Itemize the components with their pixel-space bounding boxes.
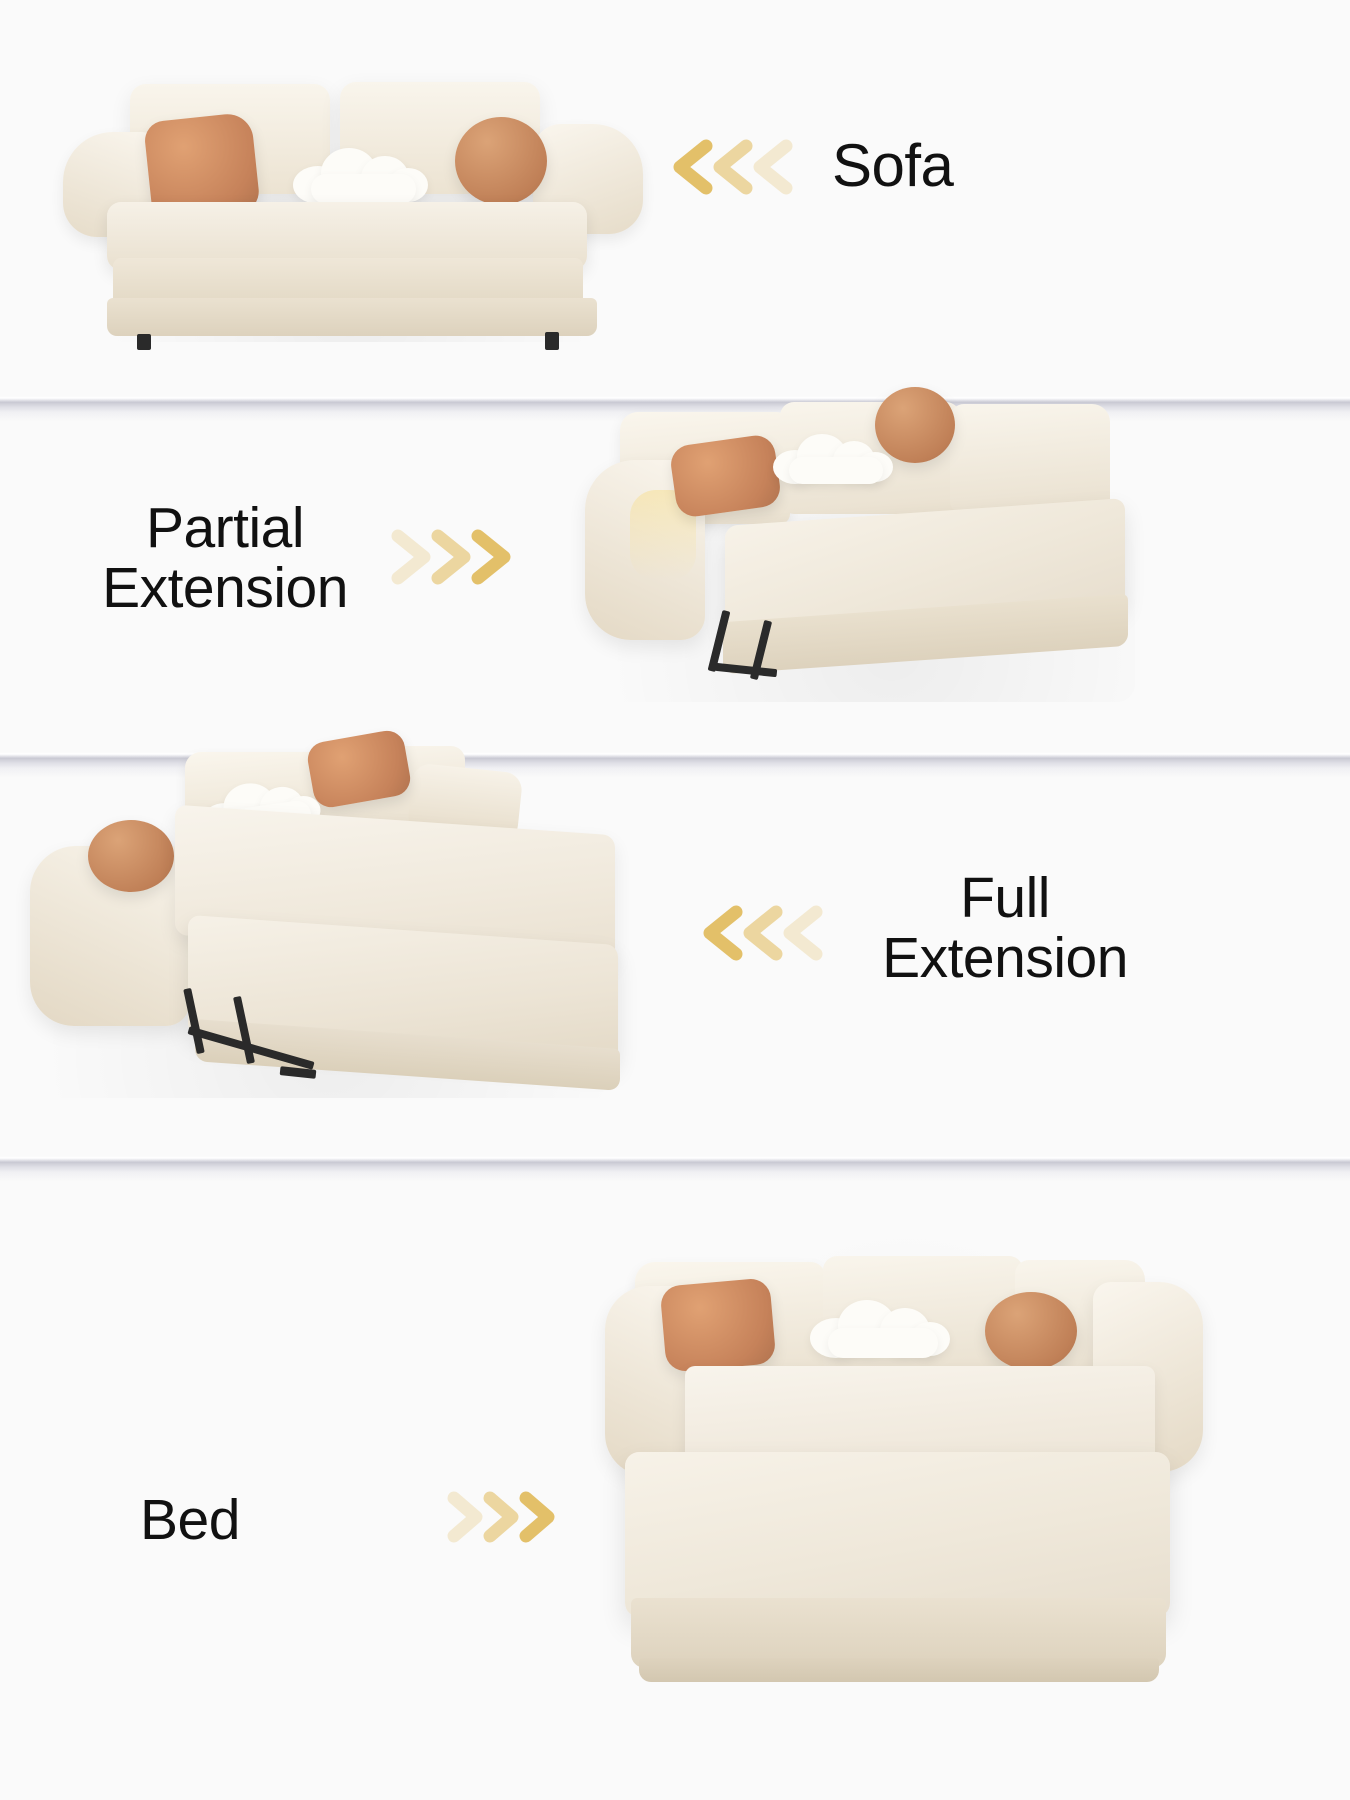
cushion-cloud [293,148,428,204]
arrow-group-partial-extension [382,526,532,588]
label-bed: Bed [140,1490,340,1550]
pillow-round-tan [985,1292,1077,1370]
pillow-terracotta [659,1277,776,1372]
chevron-left-icon [666,136,816,198]
sofa-illustration-bed [595,1070,1215,1720]
chevron-right-icon [382,526,532,588]
label-sofa: Sofa [832,136,1132,196]
infographic-page: Sofa Partial Extension [0,0,1350,1800]
pillow-terracotta [669,433,783,519]
pillow-round-tan [88,820,174,892]
cushion-cloud [810,1300,950,1358]
sofa-illustration-partial-extension [575,372,1145,732]
arrow-group-bed-inner [442,1486,572,1548]
section-partial-extension: Partial Extension [0,398,1350,756]
label-partial-extension: Partial Extension [45,498,405,618]
section-bed: Bed [0,1160,1350,1800]
cushion-cloud [773,434,893,486]
label-full-extension: Full Extension [810,868,1200,988]
mattress-front [625,1452,1170,1617]
sofa-illustration-full-extension [10,738,650,1128]
chevron-right-icon [442,1486,572,1548]
arrow-group-sofa [666,136,816,198]
section-sofa: Sofa [0,0,1350,398]
sofa-illustration-sofa [55,62,645,362]
pillow-round-tan [455,117,547,205]
